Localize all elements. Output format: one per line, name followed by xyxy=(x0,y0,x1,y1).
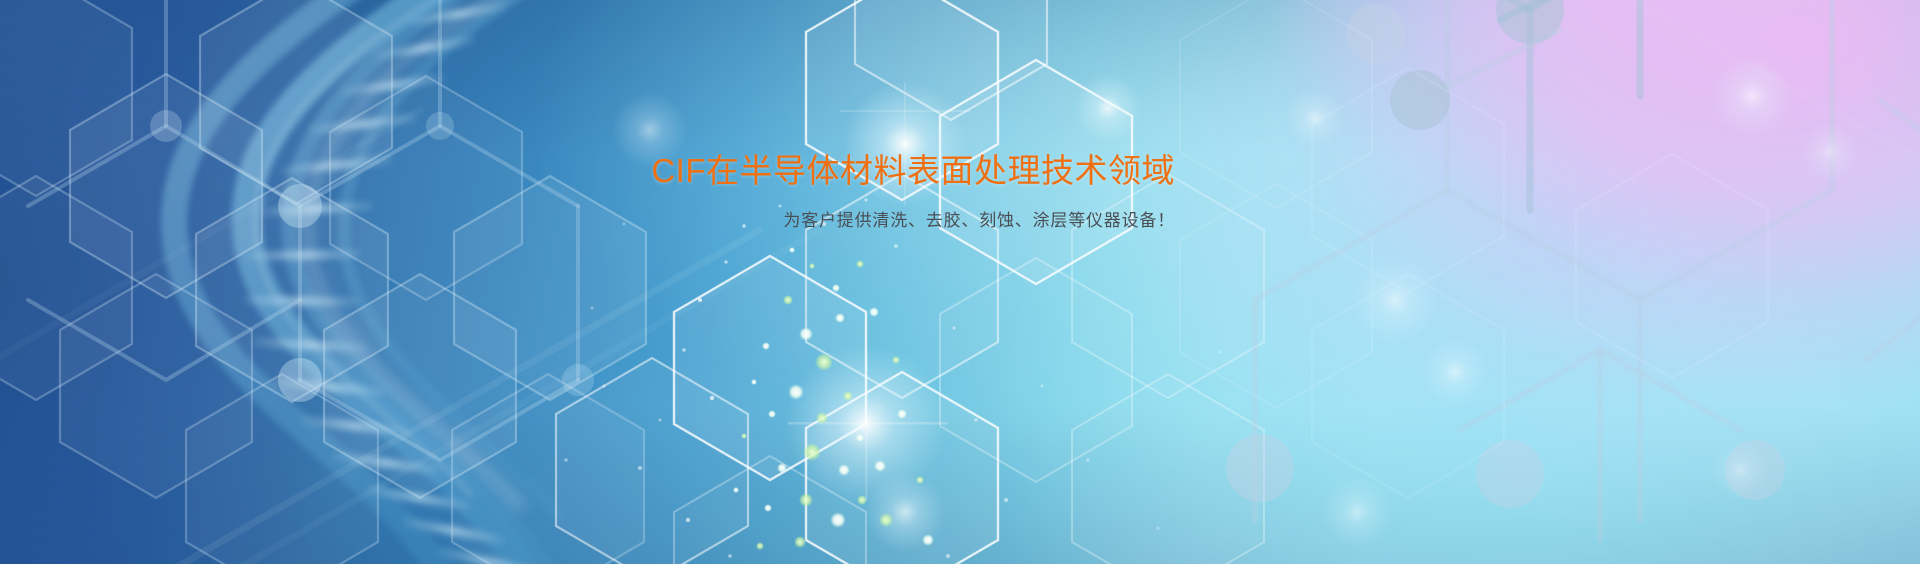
molecular-node-link-network: .bondR{stroke:#9fc0d4;stroke-opacity:.45… xyxy=(0,0,1920,564)
diagonal-light-rays xyxy=(0,0,1920,564)
banner-headline: CIF在半导体材料表面处理技术领域 xyxy=(0,150,1175,191)
hero-banner: .hxD{fill:#ffffff;fill-opacity:.045;stro… xyxy=(0,0,1920,564)
banner-subheadline: 为客户提供清洗、去胶、刻蚀、涂层等仪器设备！ xyxy=(0,209,1175,233)
hexagon-lattice-left: .hxD{fill:#ffffff;fill-opacity:.045;stro… xyxy=(0,0,1920,564)
cyan-glow-wash xyxy=(0,0,1920,564)
background-hexagon-net xyxy=(0,0,1920,564)
hexagon-lattice-center: .hxL{fill:#ffffff;fill-opacity:.085;stro… xyxy=(0,0,1920,564)
dna-helix-decoration xyxy=(0,0,1920,564)
left-dark-wash xyxy=(0,0,1920,564)
sparkle-particle-cluster xyxy=(0,0,1920,564)
pink-lavender-wash xyxy=(0,0,1920,564)
banner-copy: CIF在半导体材料表面处理技术领域 为客户提供清洗、去胶、刻蚀、涂层等仪器设备！ xyxy=(0,150,1175,233)
